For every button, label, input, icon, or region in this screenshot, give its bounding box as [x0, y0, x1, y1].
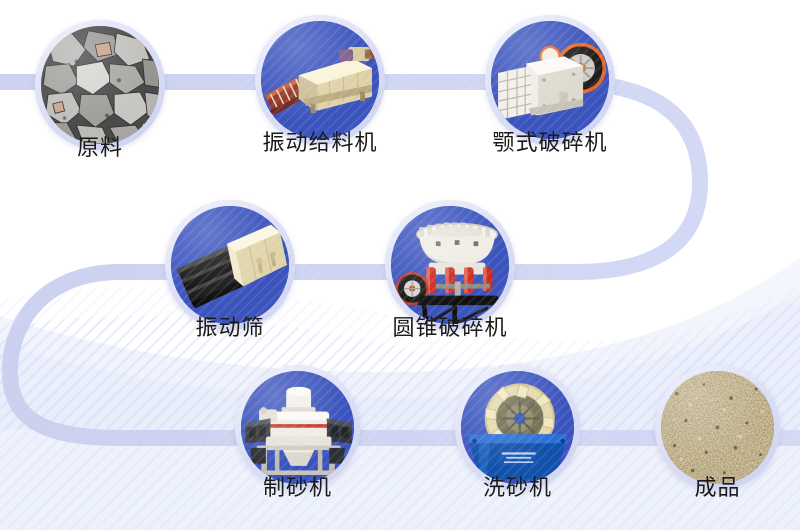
- finished-sand-photo-icon: [661, 371, 774, 484]
- node-label: 颚式破碎机: [492, 133, 607, 155]
- vsi-sand-maker-machine-icon: [241, 371, 354, 484]
- flow-node-raw-material[interactable]: 原料: [35, 20, 165, 180]
- node-circle: [165, 200, 295, 330]
- node-circle: [35, 20, 165, 150]
- node-circle: [255, 15, 385, 145]
- flow-node-finished-product[interactable]: 成品: [655, 365, 780, 515]
- flow-node-sand-maker[interactable]: 制砂机: [235, 365, 360, 515]
- flow-node-jaw-crusher[interactable]: 颚式破碎机: [485, 15, 615, 175]
- crushed-stone-photo-icon: [41, 26, 159, 144]
- node-label: 圆锥破碎机: [392, 318, 507, 340]
- node-circle: [455, 365, 580, 490]
- flow-node-vibrating-screen[interactable]: 振动筛: [165, 200, 295, 360]
- wheel-sand-washer-machine-icon: [461, 371, 574, 484]
- vibrating-screen-machine-icon: [171, 206, 289, 324]
- node-label: 洗砂机: [483, 478, 552, 500]
- cone-crusher-machine-icon: [391, 206, 509, 324]
- node-circle: [655, 365, 780, 490]
- process-flow-diagram: 原料: [0, 0, 800, 530]
- node-circle: [235, 365, 360, 490]
- node-label: 制砂机: [263, 478, 332, 500]
- flow-node-vibrating-feeder[interactable]: 振动给料机: [255, 15, 385, 175]
- node-circle: [385, 200, 515, 330]
- node-label: 成品: [694, 478, 740, 500]
- node-label: 振动筛: [195, 318, 264, 340]
- node-circle: [485, 15, 615, 145]
- vibrating-feeder-machine-icon: [261, 21, 379, 139]
- jaw-crusher-machine-icon: [491, 21, 609, 139]
- flow-node-cone-crusher[interactable]: 圆锥破碎机: [385, 200, 515, 360]
- node-label: 振动给料机: [262, 133, 377, 155]
- flow-node-sand-washer[interactable]: 洗砂机: [455, 365, 580, 515]
- node-label: 原料: [77, 138, 123, 160]
